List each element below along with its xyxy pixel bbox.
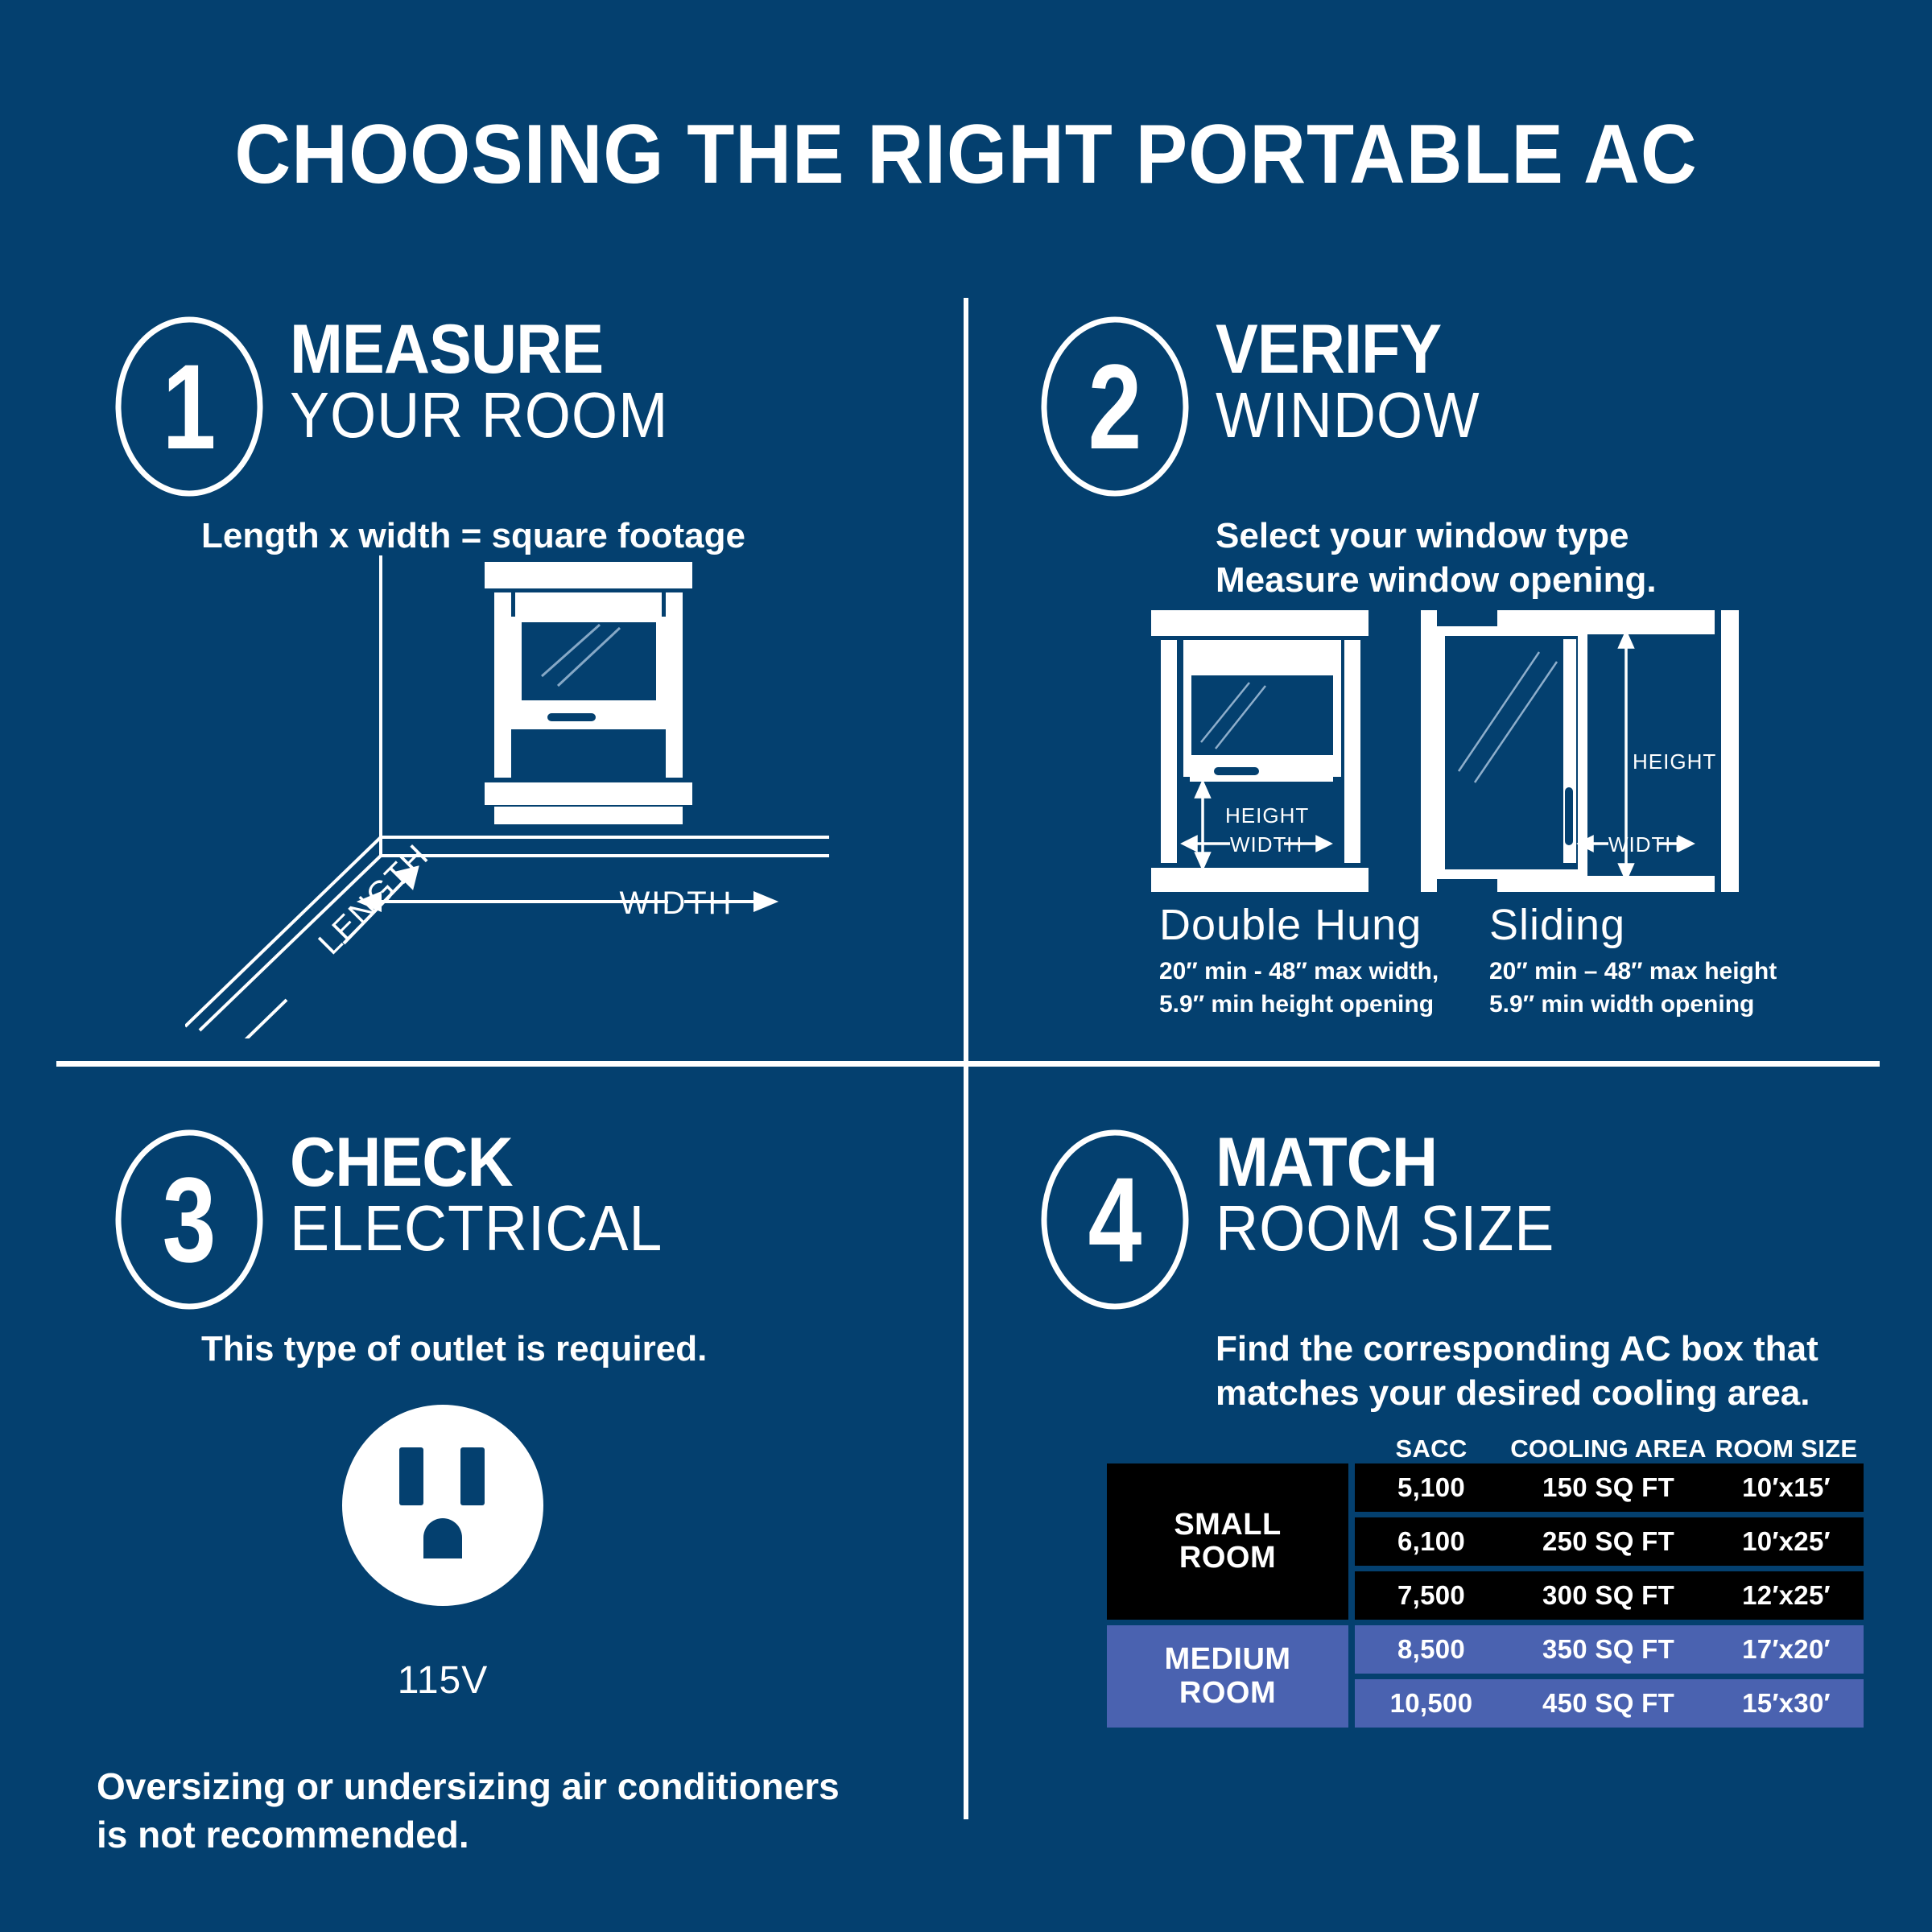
step-2-panel: 2 VERIFY WINDOW Select your window type … [1038,314,1892,1038]
double-hung-height-label: HEIGHT [1225,803,1309,828]
window-illustrations: HEIGHT WIDTH [1143,604,1787,894]
step-4-header: 4 MATCH ROOM SIZE [1038,1127,1892,1312]
group-label-medium-room: MEDIUM ROOM [1107,1625,1348,1728]
step-3-panel: 3 CHECK ELECTRICAL This type of outlet i… [113,1127,934,1835]
separator [1355,1512,1864,1517]
group-label-small-room: SMALL ROOM [1107,1463,1348,1620]
step-3-header: 3 CHECK ELECTRICAL [113,1127,934,1312]
step-3-number: 3 [128,1127,250,1312]
separator [1355,1566,1864,1571]
cell-cooling-area: 350 SQ FT [1508,1625,1709,1674]
step-1-title: MEASURE YOUR ROOM [290,317,701,448]
sliding-width-label: WIDTH [1608,832,1681,857]
step-1-number: 1 [128,314,250,499]
group-separator [1107,1620,1864,1625]
sliding-name: Sliding [1489,902,1835,949]
step-2-title: VERIFY WINDOW [1216,317,1503,448]
step-4-heading-bold: MATCH [1216,1130,1554,1196]
voltage-label: 115V [338,1658,547,1703]
window-types-diagram: HEIGHT WIDTH [1143,604,1787,898]
step-3-note-line-1: Oversizing or undersizing air conditione… [97,1763,902,1811]
step-1-panel: 1 MEASURE YOUR ROOM Length x width = squ… [113,314,934,1038]
separator [1355,1674,1864,1679]
sliding-window-illustration: HEIGHT WIDTH [1421,610,1739,892]
step-3-title: CHECK ELECTRICAL [290,1130,695,1261]
step-4-subtext: Find the corresponding AC box that match… [1216,1327,1818,1415]
size-matching-table: SACC COOLING AREA ROOM SIZE SMALL ROOM 5… [1107,1425,1864,1728]
room-size-table: SACC COOLING AREA ROOM SIZE SMALL ROOM 5… [1107,1425,1864,1728]
step-2-subtext-line-2: Measure window opening. [1216,558,1657,602]
double-hung-name: Double Hung [1159,902,1497,949]
double-hung-info: Double Hung 20″ min - 48″ max width, 5.9… [1159,902,1497,1021]
step-3-subtext: This type of outlet is required. [201,1327,707,1371]
cell-room-size: 17′x20′ [1709,1625,1864,1674]
group-label-medium-room-line-2: ROOM [1107,1677,1348,1710]
outlet-glyph [338,1401,547,1610]
double-hung-window-illustration: HEIGHT WIDTH [1151,610,1368,892]
step-1-heading-light: YOUR ROOM [290,383,668,448]
step-2-heading-bold: VERIFY [1216,317,1480,383]
step-4-heading-light: ROOM SIZE [1216,1196,1554,1261]
header-cooling-area: COOLING AREA [1508,1425,1709,1463]
group-label-small-room-line-2: ROOM [1107,1542,1348,1575]
header-gap [1348,1425,1355,1463]
step-2-number-badge: 2 [1038,314,1191,499]
separator [1107,1620,1348,1625]
cell-room-size: 10′x25′ [1709,1517,1864,1566]
step-2-header: 2 VERIFY WINDOW [1038,314,1892,499]
step-3-heading-bold: CHECK [290,1130,663,1196]
group-label-small-room-line-1: SMALL [1107,1509,1348,1542]
double-hung-spec-line-1: 20″ min - 48″ max width, [1159,956,1497,989]
room-measurement-diagram: WIDTH LENGTH [185,547,877,1042]
step-2-heading-light: WINDOW [1216,383,1480,448]
sliding-height-label: HEIGHT [1633,749,1716,774]
double-hung-spec: 20″ min - 48″ max width, 5.9″ min height… [1159,956,1497,1021]
sliding-spec-line-1: 20″ min – 48″ max height [1489,956,1835,989]
cell-sacc: 7,500 [1355,1571,1508,1620]
cell-sacc: 5,100 [1355,1463,1508,1512]
cell-room-size: 12′x25′ [1709,1571,1864,1620]
cell-room-size: 10′x15′ [1709,1463,1864,1512]
step-4-number: 4 [1054,1127,1176,1312]
label-column-gap [1348,1463,1355,1728]
step-3-number-badge: 3 [113,1127,266,1312]
cell-sacc: 6,100 [1355,1517,1508,1566]
cell-cooling-area: 250 SQ FT [1508,1517,1709,1566]
header-sacc: SACC [1355,1425,1508,1463]
width-label: WIDTH [619,885,733,921]
table-row: MEDIUM ROOM 8,500 350 SQ FT 17′x20′ [1107,1625,1864,1674]
step-2-subtext-line-1: Select your window type [1216,514,1657,558]
group-label-medium-room-line-1: MEDIUM [1107,1643,1348,1676]
step-4-subtext-line-1: Find the corresponding AC box that [1216,1327,1818,1371]
header-spacer [1107,1425,1348,1463]
step-2-subtext: Select your window type Measure window o… [1216,514,1657,602]
page-title: CHOOSING THE RIGHT PORTABLE AC [68,113,1864,196]
cell-cooling-area: 150 SQ FT [1508,1463,1709,1512]
step-4-panel: 4 MATCH ROOM SIZE Find the corresponding… [1038,1127,1892,1835]
infographic-root: CHOOSING THE RIGHT PORTABLE AC 1 MEASURE… [0,0,1932,1932]
cell-cooling-area: 300 SQ FT [1508,1571,1709,1620]
sliding-info: Sliding 20″ min – 48″ max height 5.9″ mi… [1489,902,1835,1021]
cell-sacc: 10,500 [1355,1679,1508,1728]
double-hung-width-label: WIDTH [1230,832,1302,857]
header-room-size: ROOM SIZE [1709,1425,1864,1463]
cell-sacc: 8,500 [1355,1625,1508,1674]
step-1-number-badge: 1 [113,314,266,499]
cell-cooling-area: 450 SQ FT [1508,1679,1709,1728]
step-3-heading-light: ELECTRICAL [290,1196,663,1261]
vertical-divider [964,298,968,1819]
room-corner-window-illustration: WIDTH LENGTH [185,547,877,1038]
separator [1355,1620,1864,1625]
electrical-outlet-icon [338,1401,547,1614]
step-3-note-line-2: is not recommended. [97,1811,902,1860]
step-4-number-badge: 4 [1038,1127,1191,1312]
step-2-number: 2 [1054,314,1176,499]
step-1-header: 1 MEASURE YOUR ROOM [113,314,934,499]
table-header-row: SACC COOLING AREA ROOM SIZE [1107,1425,1864,1463]
sliding-spec: 20″ min – 48″ max height 5.9″ min width … [1489,956,1835,1021]
length-label: LENGTH [312,837,436,961]
step-4-subtext-line-2: matches your desired cooling area. [1216,1371,1818,1415]
step-1-heading-bold: MEASURE [290,317,668,383]
cell-room-size: 15′x30′ [1709,1679,1864,1728]
step-4-title: MATCH ROOM SIZE [1216,1130,1584,1261]
double-hung-spec-line-2: 5.9″ min height opening [1159,989,1497,1022]
table-row: SMALL ROOM 5,100 150 SQ FT 10′x15′ [1107,1463,1864,1512]
step-3-note: Oversizing or undersizing air conditione… [97,1763,902,1860]
sliding-spec-line-2: 5.9″ min width opening [1489,989,1835,1022]
